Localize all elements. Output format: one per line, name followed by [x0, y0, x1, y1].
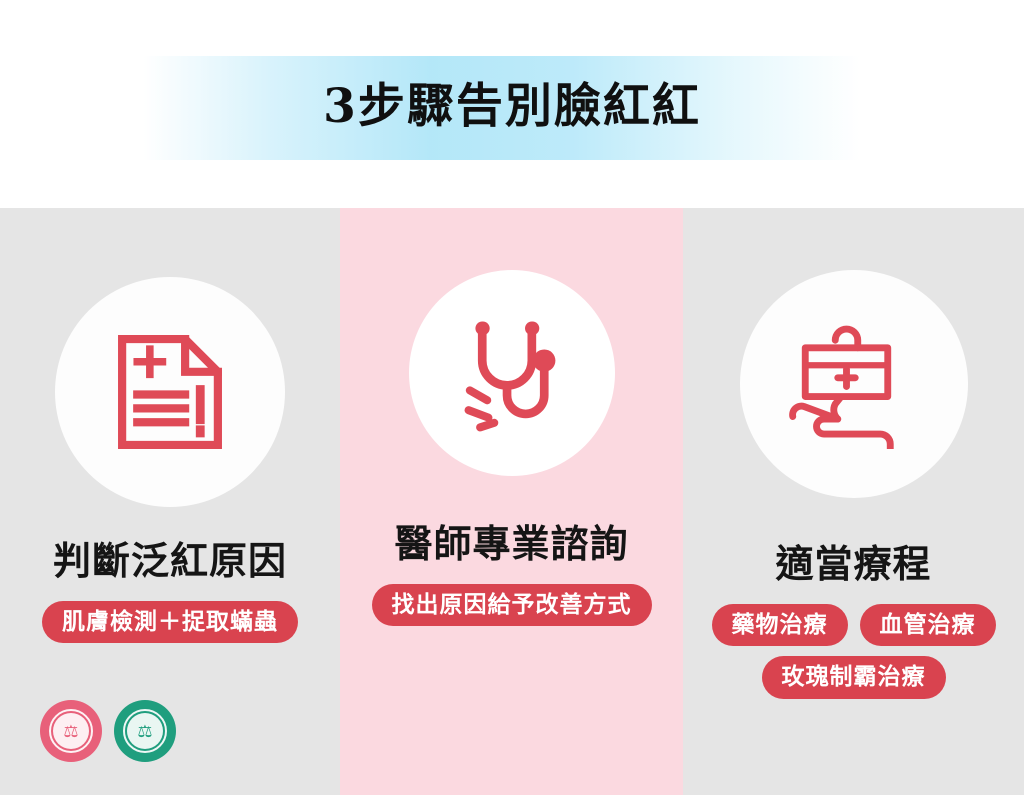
- step-2-heading: 醫師專業諮詢: [394, 524, 628, 568]
- society-emblem-pink-icon: ⚖: [40, 700, 102, 762]
- stethoscope-icon: [450, 311, 574, 435]
- society-emblem-green-icon: ⚖: [114, 700, 176, 762]
- step-3-pill-1[interactable]: 藥物治療: [712, 604, 848, 647]
- step-column-3: 適當療程 藥物治療 血管治療 玫瑰制霸治療: [683, 208, 1024, 795]
- page-title: 3步驟告別臉紅紅: [0, 62, 1024, 152]
- step-3-heading: 適當療程: [775, 544, 931, 588]
- step-3-pill-row-2: 玫瑰制霸治療: [683, 656, 1024, 699]
- medical-report-icon: [107, 329, 233, 455]
- step-1-pill-row-1: 肌膚檢測＋捉取蟎蟲: [0, 601, 340, 644]
- step-2-pill-row-1: 找出原因給予改善方式: [340, 584, 683, 627]
- step-2-pill-1[interactable]: 找出原因給予改善方式: [372, 584, 652, 627]
- emblem-scale-glyph: ⚖: [114, 700, 176, 762]
- step-1-icon-circle: [55, 277, 285, 507]
- step-2-icon-circle: [409, 270, 615, 476]
- medical-kit-on-hand-icon: [785, 319, 923, 449]
- emblem-scale-glyph: ⚖: [40, 700, 102, 762]
- step-3-pill-3[interactable]: 玫瑰制霸治療: [762, 656, 946, 699]
- step-column-2: 醫師專業諮詢 找出原因給予改善方式: [340, 208, 683, 795]
- step-1-heading: 判斷泛紅原因: [53, 541, 287, 585]
- accreditation-logo-strip: ⚖ ⚖: [40, 700, 176, 762]
- step-3-pill-row-1: 藥物治療 血管治療: [683, 604, 1024, 647]
- step-1-pill-1[interactable]: 肌膚檢測＋捉取蟎蟲: [42, 601, 298, 644]
- step-3-icon-circle: [740, 270, 968, 498]
- step-3-pill-2[interactable]: 血管治療: [860, 604, 996, 647]
